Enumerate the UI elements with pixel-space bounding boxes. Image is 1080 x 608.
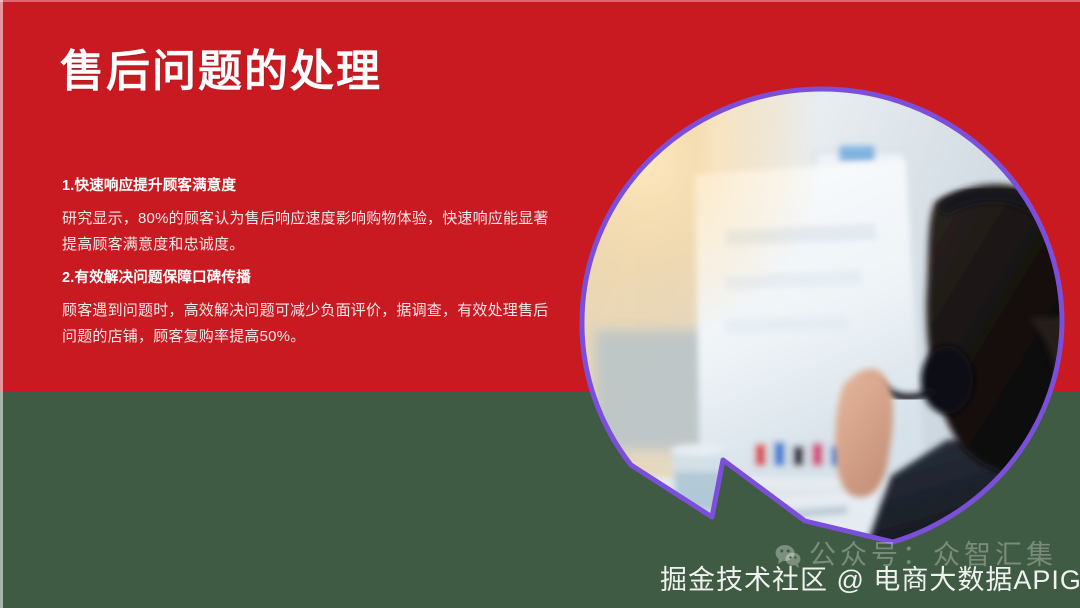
page-title: 售后问题的处理 [60,48,382,96]
slide-top-edge [0,0,1080,2]
slide-left-edge [0,0,3,608]
bubble-photo [575,80,1070,555]
section-1-heading: 1.快速响应提升顾客满意度 [62,176,562,198]
speech-bubble-image [575,80,1070,555]
section-1-body: 研究显示，80%的顾客认为售后响应速度影响购物体验，快速响应能显著提高顾客满意度… [62,206,562,259]
content-body: 1.快速响应提升顾客满意度 研究显示，80%的顾客认为售后响应速度影响购物体验，… [62,176,562,361]
speech-bubble-svg [575,80,1070,555]
section-2-body: 顾客遇到问题时，高效解决问题可减少负面评价，据调查，有效处理售后问题的店铺，顾客… [62,298,562,351]
watermark-main: 掘金技术社区 @ 电商大数据APIGirl [660,558,1080,597]
slide-canvas: 售后问题的处理 1.快速响应提升顾客满意度 研究显示，80%的顾客认为售后响应速… [0,0,1080,608]
section-2-heading: 2.有效解决问题保障口碑传播 [62,268,562,290]
headset-earcup [921,346,973,414]
